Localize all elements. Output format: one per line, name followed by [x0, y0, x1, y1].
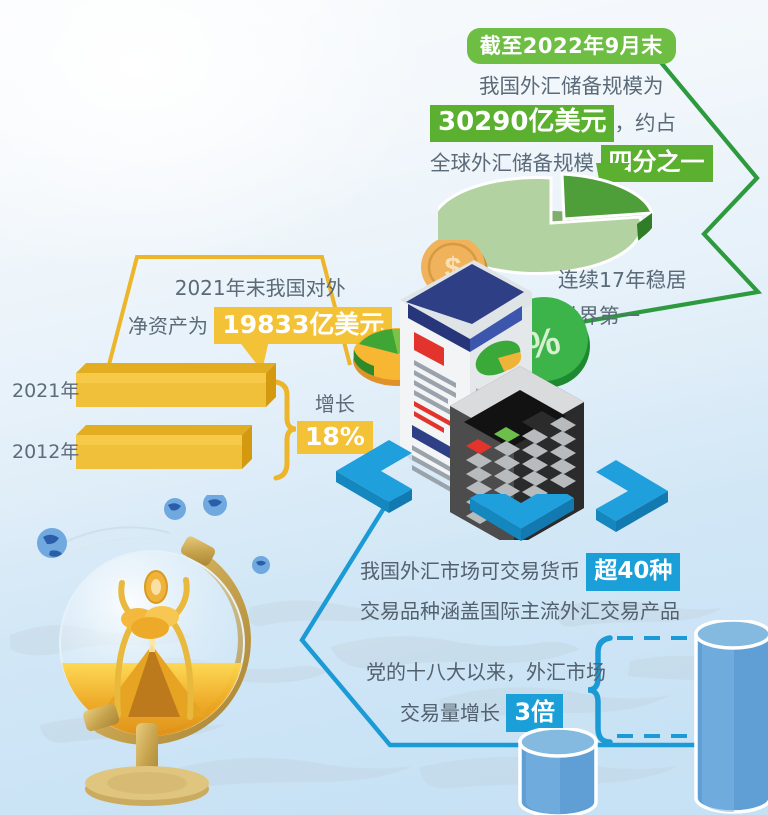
blue-stat-block-1: 我国外汇市场可交易货币 超40种 交易品种涵盖国际主流外汇交易产品 [360, 553, 680, 628]
bar-label-2012: 2012年 [12, 437, 79, 464]
orange-line-2-prefix: 净资产为 [128, 314, 208, 338]
bar-growth-brace [276, 382, 296, 478]
green-stat-block: 截至2022年9月末 我国外汇储备规模为 30290亿美元，约占 全球外汇储备规… [430, 28, 713, 182]
blue-stat-block-2: 党的十八大以来，外汇市场 交易量增长 3倍 [366, 655, 606, 732]
cylinder-small [516, 728, 600, 815]
blue-line-4-prefix: 交易量增长 [400, 701, 500, 725]
bar-2012 [76, 425, 252, 469]
green-badge: 截至2022年9月末 [467, 28, 676, 64]
bar-2021 [76, 363, 276, 407]
green-reserve-amount: 30290亿美元 [430, 105, 614, 142]
infographic-canvas: 截至2022年9月末 我国外汇储备规模为 30290亿美元，约占 全球外汇储备规… [0, 0, 768, 815]
chevron-right-icon [596, 458, 706, 536]
cylinder-large [692, 620, 768, 815]
green-line-1: 我国外汇储备规模为 [430, 70, 713, 103]
blue-line-1-prefix: 我国外汇市场可交易货币 [360, 559, 580, 583]
blue-line-2: 交易品种涵盖国际主流外汇交易产品 [360, 594, 680, 628]
trade-volume-growth: 3倍 [506, 694, 563, 732]
mini-earth-icon-4 [252, 556, 270, 574]
mini-earth-icon-2 [164, 498, 186, 520]
bar-label-2021: 2021年 [12, 376, 79, 403]
golden-globe-hourglass [10, 495, 290, 815]
blue-line-3: 党的十八大以来，外汇市场 [366, 655, 606, 689]
pie-slice-quarter [562, 174, 652, 219]
mini-earth-icon-1 [37, 528, 67, 558]
green-line-2-tail: ，约占 [614, 111, 676, 135]
mini-earth-icon-3 [203, 495, 227, 516]
chevron-left-icon [336, 438, 446, 516]
tradable-currency-count: 超40种 [586, 553, 680, 591]
